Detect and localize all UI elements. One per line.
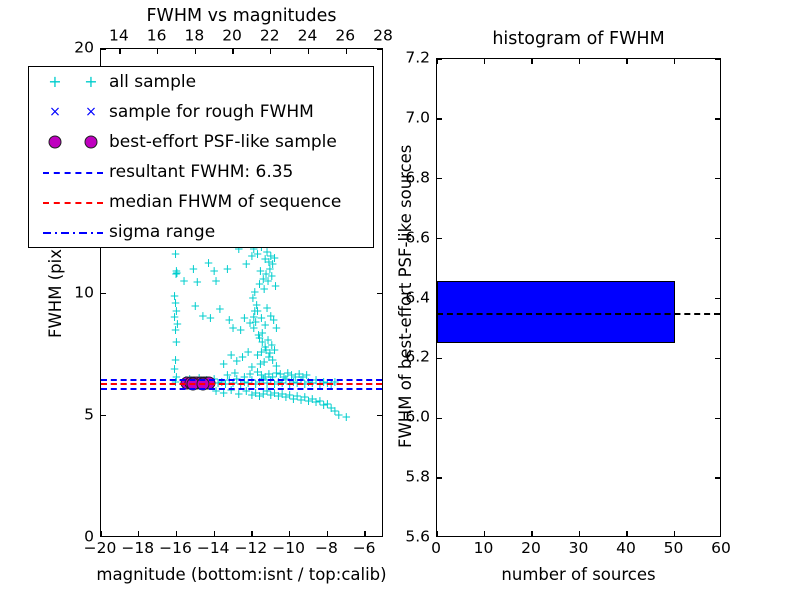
all-sample-point: + bbox=[304, 376, 314, 388]
legend-box: ++all sample××sample for rough FWHMbest-… bbox=[28, 66, 374, 248]
all-sample-point: + bbox=[239, 371, 249, 383]
all-sample-point: + bbox=[258, 273, 268, 285]
legend-item[interactable]: median FHWM of sequence bbox=[29, 187, 373, 217]
all-sample-point: + bbox=[188, 263, 198, 275]
right-xticklabel: 20 bbox=[521, 541, 541, 557]
right-xticklabel: 50 bbox=[664, 541, 684, 557]
all-sample-point: + bbox=[205, 312, 215, 324]
all-sample-point: + bbox=[330, 405, 340, 417]
all-sample-point: + bbox=[268, 258, 278, 270]
all-sample-point: + bbox=[265, 263, 275, 275]
all-sample-point: + bbox=[172, 318, 182, 330]
all-sample-point: + bbox=[268, 371, 278, 383]
right-xticklabel: 30 bbox=[569, 541, 589, 557]
left-yticklabel: 5 bbox=[84, 407, 94, 423]
all-sample-point: + bbox=[254, 329, 264, 341]
right-yticklabel: 6.8 bbox=[405, 170, 430, 186]
all-sample-point: + bbox=[256, 312, 266, 324]
all-sample-point: + bbox=[334, 409, 344, 421]
all-sample-point: + bbox=[190, 300, 200, 312]
left-xticklabel-bottom: −18 bbox=[121, 541, 154, 557]
left-panel-title: FWHM vs magnitudes bbox=[146, 8, 336, 26]
all-sample-point: + bbox=[253, 349, 263, 361]
all-sample-point: + bbox=[307, 393, 317, 405]
left-ytick-right bbox=[377, 415, 382, 416]
all-sample-point: + bbox=[255, 265, 265, 277]
all-sample-point: + bbox=[190, 376, 200, 388]
left-xticklabel-top: 20 bbox=[222, 29, 242, 45]
all-sample-point: + bbox=[170, 363, 180, 375]
all-sample-point: + bbox=[247, 250, 257, 262]
all-sample-point: + bbox=[226, 349, 236, 361]
left-xtick-top bbox=[346, 49, 347, 54]
right-xtick-top bbox=[437, 59, 438, 64]
left-xticklabel-top: 24 bbox=[298, 29, 318, 45]
left-xtick-top bbox=[232, 49, 233, 54]
all-sample-point: + bbox=[288, 393, 298, 405]
all-sample-point: + bbox=[179, 275, 189, 287]
left-xticklabel-top: 14 bbox=[109, 29, 129, 45]
all-sample-point: + bbox=[265, 347, 275, 359]
all-sample-point: + bbox=[228, 322, 238, 334]
all-sample-point: + bbox=[172, 267, 182, 279]
all-sample-point: + bbox=[292, 390, 302, 402]
all-sample-point: + bbox=[239, 376, 249, 388]
right-xticklabel: 40 bbox=[616, 541, 636, 557]
right-ytick bbox=[437, 358, 442, 359]
all-sample-point: + bbox=[253, 366, 263, 378]
right-panel-xlabel: number of sources bbox=[501, 567, 655, 584]
left-ytick bbox=[101, 415, 106, 416]
all-sample-point: + bbox=[259, 356, 269, 368]
right-ytick-right bbox=[715, 358, 720, 359]
all-sample-point: + bbox=[250, 305, 260, 317]
all-sample-point: + bbox=[260, 319, 270, 331]
all-sample-point: + bbox=[232, 355, 242, 367]
all-sample-point: + bbox=[326, 402, 336, 414]
legend-item[interactable]: ++all sample bbox=[29, 67, 373, 97]
all-sample-point: + bbox=[263, 275, 273, 287]
legend-marker-sample: ×× bbox=[37, 97, 109, 127]
left-xticklabel-bottom: −6 bbox=[353, 541, 376, 557]
right-ytick bbox=[437, 418, 442, 419]
left-ytick-right bbox=[377, 293, 382, 294]
all-sample-point: + bbox=[268, 354, 278, 366]
all-sample-point: + bbox=[170, 248, 180, 260]
all-sample-point: + bbox=[170, 354, 180, 366]
all-sample-point: + bbox=[215, 303, 225, 315]
all-sample-point: + bbox=[298, 371, 308, 383]
all-sample-point: + bbox=[263, 334, 273, 346]
legend-item-label: all sample bbox=[109, 74, 196, 91]
all-sample-point: + bbox=[264, 256, 274, 268]
left-xtick-bottom bbox=[176, 531, 177, 536]
right-xtick bbox=[579, 531, 580, 536]
cross-icon: × bbox=[49, 105, 61, 119]
right-yticklabel: 6.2 bbox=[405, 350, 430, 366]
all-sample-point: + bbox=[219, 358, 229, 370]
left-xtick-top bbox=[195, 49, 196, 54]
circle-icon bbox=[49, 136, 62, 149]
legend-item-label: sample for rough FWHM bbox=[109, 104, 314, 121]
right-yticklabel: 6.0 bbox=[405, 410, 430, 426]
left-xtick-bottom bbox=[289, 531, 290, 536]
left-xticklabel-top: 16 bbox=[147, 29, 167, 45]
left-xtick-bottom bbox=[138, 531, 139, 536]
all-sample-point: + bbox=[330, 376, 340, 388]
all-sample-point: + bbox=[217, 376, 227, 388]
left-xtick-top bbox=[119, 49, 120, 54]
all-sample-point: + bbox=[271, 360, 281, 372]
all-sample-point: + bbox=[224, 314, 234, 326]
legend-item[interactable]: ××sample for rough FWHM bbox=[29, 97, 373, 127]
all-sample-point: + bbox=[288, 376, 298, 388]
all-sample-point: + bbox=[261, 268, 271, 280]
all-sample-point: + bbox=[170, 297, 180, 309]
all-sample-point: + bbox=[281, 391, 291, 403]
all-sample-point: + bbox=[253, 248, 263, 260]
all-sample-point: + bbox=[260, 341, 270, 353]
right-xtick bbox=[531, 531, 532, 536]
left-xtick-top bbox=[270, 49, 271, 54]
all-sample-point: + bbox=[211, 385, 221, 397]
dashed-line-icon bbox=[43, 202, 103, 204]
left-xticklabel-bottom: −16 bbox=[159, 541, 192, 557]
all-sample-point: + bbox=[171, 371, 181, 383]
all-sample-point: + bbox=[170, 290, 180, 302]
left-xticklabel-top: 28 bbox=[373, 29, 393, 45]
reference-line bbox=[101, 388, 382, 390]
all-sample-point: + bbox=[296, 394, 306, 406]
dashed-line-icon bbox=[43, 172, 103, 174]
left-xticklabel-bottom: −14 bbox=[197, 541, 230, 557]
all-sample-point: + bbox=[290, 371, 300, 383]
left-xtick-bottom bbox=[364, 531, 365, 536]
right-ytick-right bbox=[715, 477, 720, 478]
all-sample-point: + bbox=[269, 314, 279, 326]
right-xtick bbox=[674, 531, 675, 536]
all-sample-point: + bbox=[254, 278, 264, 290]
histogram-bar bbox=[437, 281, 675, 344]
all-sample-point: + bbox=[273, 390, 283, 402]
left-xticklabel-bottom: −10 bbox=[272, 541, 305, 557]
right-xtick-top bbox=[579, 59, 580, 64]
all-sample-point: + bbox=[283, 367, 293, 379]
all-sample-point: + bbox=[251, 316, 261, 328]
all-sample-point: + bbox=[241, 385, 251, 397]
all-sample-point: + bbox=[266, 389, 276, 401]
legend-marker-sample: ++ bbox=[37, 67, 109, 97]
circle-icon bbox=[85, 136, 98, 149]
all-sample-point: + bbox=[170, 324, 180, 336]
reference-line bbox=[101, 379, 382, 381]
all-sample-point: + bbox=[270, 280, 280, 292]
left-xticklabel-top: 18 bbox=[184, 29, 204, 45]
all-sample-point: + bbox=[248, 292, 258, 304]
reference-line bbox=[101, 383, 382, 385]
all-sample-point: + bbox=[255, 358, 265, 370]
left-xtick-bottom bbox=[327, 531, 328, 536]
right-xticklabel: 60 bbox=[711, 541, 731, 557]
left-yticklabel: 10 bbox=[74, 285, 94, 301]
all-sample-point: + bbox=[322, 398, 332, 410]
all-sample-point: + bbox=[211, 275, 221, 287]
legend-item[interactable]: best-effort PSF-like sample bbox=[29, 127, 373, 157]
all-sample-point: + bbox=[267, 339, 277, 351]
all-sample-point: + bbox=[252, 299, 262, 311]
right-xtick-top bbox=[626, 59, 627, 64]
all-sample-point: + bbox=[311, 396, 321, 408]
all-sample-point: + bbox=[264, 351, 274, 363]
left-xticklabel-top: 22 bbox=[260, 29, 280, 45]
all-sample-point: + bbox=[249, 322, 259, 334]
right-yticklabel: 6.6 bbox=[405, 230, 430, 246]
all-sample-point: + bbox=[285, 389, 295, 401]
all-sample-point: + bbox=[260, 371, 270, 383]
left-xtick-top bbox=[157, 49, 158, 54]
left-ytick-right bbox=[377, 49, 382, 50]
dashdot-line-icon bbox=[43, 232, 103, 234]
legend-marker-sample bbox=[37, 187, 109, 217]
all-sample-point: + bbox=[260, 253, 270, 265]
plus-icon: + bbox=[48, 74, 61, 90]
right-yticklabel: 7.0 bbox=[405, 110, 430, 126]
all-sample-point: + bbox=[261, 344, 271, 356]
left-ytick bbox=[101, 49, 106, 50]
all-sample-point: + bbox=[171, 265, 181, 277]
left-xtick-bottom bbox=[214, 531, 215, 536]
all-sample-point: + bbox=[253, 305, 263, 317]
legend-marker-sample bbox=[37, 157, 109, 187]
right-xticklabel: 10 bbox=[474, 541, 494, 557]
right-ytick-right bbox=[715, 118, 720, 119]
all-sample-point: + bbox=[257, 327, 267, 339]
legend-item-label: sigma range bbox=[109, 224, 215, 241]
right-ytick bbox=[437, 477, 442, 478]
left-yticklabel: 20 bbox=[74, 40, 94, 56]
all-sample-point: + bbox=[266, 250, 276, 262]
all-sample-point: + bbox=[249, 311, 259, 323]
left-xticklabel-bottom: −8 bbox=[315, 541, 338, 557]
right-yticklabel: 6.4 bbox=[405, 290, 430, 306]
fwhm-histogram-axes bbox=[436, 58, 721, 537]
all-sample-point: + bbox=[239, 312, 249, 324]
right-panel-title: histogram of FWHM bbox=[492, 31, 664, 49]
right-xtick-top bbox=[484, 59, 485, 64]
all-sample-point: + bbox=[256, 346, 266, 358]
all-sample-point: + bbox=[315, 395, 325, 407]
left-panel-xlabel: magnitude (bottom:isnt / top:calib) bbox=[96, 567, 386, 584]
all-sample-point: + bbox=[243, 346, 253, 358]
right-yticklabel: 5.8 bbox=[405, 469, 430, 485]
legend-marker-sample bbox=[37, 217, 109, 247]
right-yticklabel: 7.2 bbox=[405, 50, 430, 66]
left-yticklabel: 0 bbox=[84, 529, 94, 545]
right-xtick bbox=[626, 531, 627, 536]
all-sample-point: + bbox=[254, 376, 264, 388]
right-ytick-right bbox=[715, 238, 720, 239]
right-ytick bbox=[437, 238, 442, 239]
all-sample-point: + bbox=[271, 367, 281, 379]
all-sample-point: + bbox=[170, 376, 180, 388]
all-sample-point: + bbox=[279, 371, 289, 383]
all-sample-point: + bbox=[250, 286, 260, 298]
left-xticklabel-bottom: −12 bbox=[235, 541, 268, 557]
right-yticklabel: 5.6 bbox=[405, 529, 430, 545]
all-sample-point: + bbox=[262, 302, 272, 314]
all-sample-point: + bbox=[270, 252, 280, 264]
legend-item-label: best-effort PSF-like sample bbox=[109, 134, 337, 151]
all-sample-point: + bbox=[273, 376, 283, 388]
cross-icon: × bbox=[85, 105, 97, 119]
right-xtick-top bbox=[531, 59, 532, 64]
all-sample-point: + bbox=[319, 399, 329, 411]
left-xtick-top bbox=[308, 49, 309, 54]
all-sample-point: + bbox=[247, 389, 257, 401]
all-sample-point: + bbox=[170, 311, 180, 323]
all-sample-point: + bbox=[254, 332, 264, 344]
all-sample-point: + bbox=[319, 376, 329, 388]
all-sample-point: + bbox=[237, 351, 247, 363]
all-sample-point: + bbox=[270, 344, 280, 356]
left-xtick-bottom bbox=[251, 531, 252, 536]
all-sample-point: + bbox=[171, 268, 181, 280]
all-sample-point: + bbox=[262, 385, 272, 397]
right-ytick-right bbox=[715, 178, 720, 179]
figure-canvas: FWHM vs magnitudes magnitude (bottom:isn… bbox=[0, 0, 800, 600]
all-sample-point: + bbox=[300, 391, 310, 403]
right-xticklabel: 0 bbox=[431, 541, 441, 557]
right-ytick-right bbox=[715, 59, 720, 60]
all-sample-point: + bbox=[171, 336, 181, 348]
histogram-plot-area bbox=[437, 59, 720, 536]
all-sample-point: + bbox=[247, 361, 257, 373]
left-xtick-bottom bbox=[101, 531, 102, 536]
all-sample-point: + bbox=[204, 257, 214, 269]
all-sample-point: + bbox=[254, 390, 264, 402]
all-sample-point: + bbox=[271, 322, 281, 334]
right-xtick bbox=[484, 531, 485, 536]
all-sample-point: + bbox=[259, 283, 269, 295]
right-ytick bbox=[437, 178, 442, 179]
right-ytick-right bbox=[715, 298, 720, 299]
legend-item[interactable]: sigma range bbox=[29, 217, 373, 247]
right-ytick bbox=[437, 59, 442, 60]
legend-marker-sample bbox=[37, 127, 109, 157]
right-ytick-right bbox=[715, 418, 720, 419]
legend-item[interactable]: resultant FWHM: 6.35 bbox=[29, 157, 373, 187]
all-sample-point: + bbox=[266, 310, 276, 322]
all-sample-point: + bbox=[222, 263, 232, 275]
left-ytick bbox=[101, 293, 106, 294]
all-sample-point: + bbox=[267, 270, 277, 282]
all-sample-point: + bbox=[257, 336, 267, 348]
all-sample-point: + bbox=[171, 305, 181, 317]
histogram-median-line bbox=[437, 313, 720, 315]
all-sample-point: + bbox=[245, 317, 255, 329]
all-sample-point: + bbox=[230, 367, 240, 379]
all-sample-point: + bbox=[192, 276, 202, 288]
right-xtick bbox=[437, 531, 438, 536]
all-sample-point: + bbox=[198, 310, 208, 322]
all-sample-point: + bbox=[236, 324, 246, 336]
legend-item-label: resultant FWHM: 6.35 bbox=[109, 164, 293, 181]
plus-icon: + bbox=[84, 74, 97, 90]
left-xticklabel-top: 26 bbox=[335, 29, 355, 45]
right-ytick bbox=[437, 118, 442, 119]
all-sample-point: + bbox=[304, 395, 314, 407]
all-sample-point: + bbox=[241, 258, 251, 270]
right-xtick-top bbox=[674, 59, 675, 64]
left-panel-ylabel: FWHM (pix) bbox=[48, 242, 65, 337]
all-sample-point: + bbox=[209, 265, 219, 277]
legend-item-label: median FHWM of sequence bbox=[109, 194, 341, 211]
all-sample-point: + bbox=[341, 411, 351, 423]
